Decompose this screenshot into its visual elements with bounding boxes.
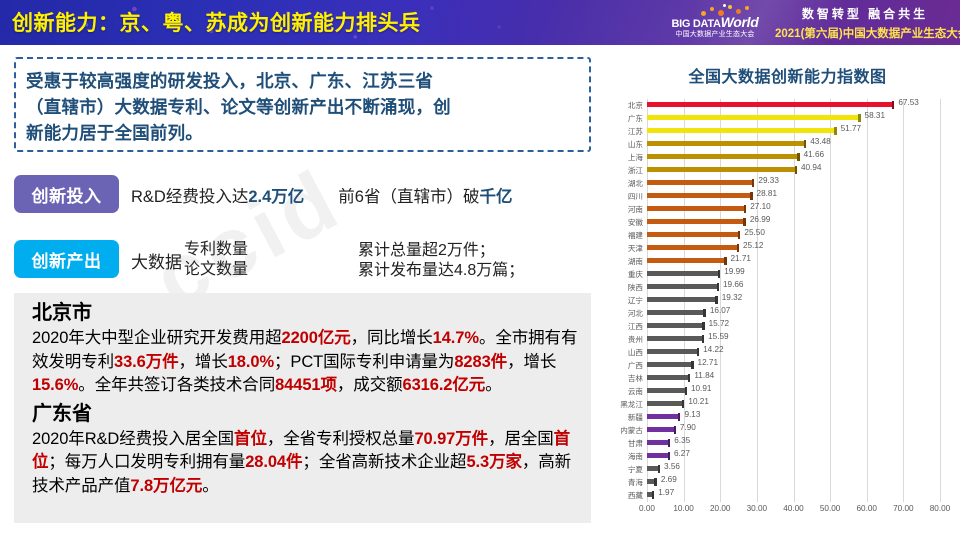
summary-callout-box: 受惠于较高强度的研发投入，北京、广东、江苏三省 （直辖市）大数据专利、论文等创新…: [14, 57, 591, 152]
chart-bar-row: 安徽26.99: [647, 216, 940, 229]
top6-label: 前6省（直辖市）破: [338, 188, 479, 206]
chart-bar-row: 四川28.81: [647, 190, 940, 203]
chart-category-label: 江苏: [628, 126, 643, 137]
chart-category-label: 广西: [628, 360, 643, 371]
chart-bar-row: 上海41.66: [647, 151, 940, 164]
chart-value-label: 25.50: [744, 228, 765, 237]
chart-bar-row: 湖北29.33: [647, 177, 940, 190]
top-banner: 创新能力：京、粤、苏成为创新能力排头兵 BIG DATAWorld 中国大数据产…: [0, 0, 960, 45]
chart-bar-row: 天津25.12: [647, 242, 940, 255]
chart-x-tick-label: 60.00: [857, 504, 878, 513]
chart-category-label: 陕西: [628, 282, 643, 293]
chart-x-axis: 0.0010.0020.0030.0040.0050.0060.0070.008…: [647, 504, 940, 524]
chart-category-label: 江西: [628, 321, 643, 332]
chart-bar: [647, 336, 704, 341]
chart-bar-row: 辽宁19.32: [647, 294, 940, 307]
chart-bar-row: 海南6.27: [647, 450, 940, 463]
innovation-output-text: 大数据 专利数量 论文数量: [131, 240, 248, 280]
chart-category-label: 贵州: [628, 334, 643, 345]
chart-value-label: 3.56: [664, 462, 680, 471]
chart-bar-row: 江西15.72: [647, 320, 940, 333]
output-metric-patents: 专利数量: [184, 241, 248, 258]
chart-x-tick-label: 30.00: [747, 504, 768, 513]
chart-bar-row: 西藏1.97: [647, 489, 940, 502]
chart-value-label: 41.66: [804, 150, 825, 159]
chart-bar-row: 重庆19.99: [647, 268, 940, 281]
chart-bar-cap: [702, 322, 704, 330]
chart-bar: [647, 310, 706, 315]
chart-bar: [647, 362, 694, 367]
chart-bar-row: 山西14.22: [647, 346, 940, 359]
top6-value: 千亿: [479, 188, 512, 206]
chart-category-label: 西藏: [628, 490, 643, 501]
chart-bar-cap: [668, 439, 670, 447]
chart-bar-cap: [685, 387, 687, 395]
chart-value-label: 51.77: [841, 124, 862, 133]
chart-value-label: 40.94: [801, 163, 822, 172]
bigdata-prefix-label: 大数据: [131, 248, 182, 273]
chart-bar-cap: [795, 166, 797, 174]
chart-category-label: 浙江: [628, 165, 643, 176]
chart-bar-cap: [737, 244, 739, 252]
chart-bar-cap: [688, 374, 690, 382]
chart-bar-cap: [858, 114, 860, 122]
chart-bar: [647, 245, 739, 250]
chart-bar: [647, 180, 754, 185]
chart-value-label: 15.72: [709, 319, 730, 328]
chart-bar: [647, 167, 797, 172]
chart-bar-cap: [834, 127, 836, 135]
chart-bar: [647, 388, 687, 393]
chart-x-tick-label: 50.00: [820, 504, 841, 513]
chart-category-label: 宁夏: [628, 464, 643, 475]
chart-bar: [647, 401, 684, 406]
chart-bar: [647, 219, 746, 224]
chart-category-label: 海南: [628, 451, 643, 462]
logo-subtitle: 中国大数据产业生态大会: [655, 29, 775, 39]
chart-category-label: 湖南: [628, 256, 643, 267]
chart-bar-cap: [678, 413, 680, 421]
chart-category-label: 湖北: [628, 178, 643, 189]
chart-bar-cap: [691, 361, 693, 369]
chart-bar-row: 江苏51.77: [647, 125, 940, 138]
chart-bar: [647, 193, 753, 198]
chart-value-label: 6.35: [674, 436, 690, 445]
output-metric-papers: 论文数量: [184, 261, 248, 278]
chart-bar-cap: [743, 218, 745, 226]
logo-wordmark: BIG DATAWorld: [655, 14, 775, 30]
chart-value-label: 29.33: [758, 176, 779, 185]
callout-line-2: （直辖市）大数据专利、论文等创新产出不断涌现，创: [26, 97, 451, 117]
beijing-body: 2020年大中型企业研究开发费用超2200亿元，同比增长14.7%。全市拥有有效…: [32, 327, 581, 398]
chart-bar: [647, 141, 806, 146]
chart-bar: [647, 154, 800, 159]
beijing-heading: 北京市: [32, 301, 581, 326]
innovation-output-row: 创新产出: [14, 240, 119, 278]
rd-funding-label: R&D经费投入达: [131, 188, 248, 206]
badge-innovation-output: 创新产出: [14, 240, 119, 278]
chart-category-label: 安徽: [628, 217, 643, 228]
chart-bar-cap: [892, 101, 894, 109]
chart-bar: [647, 427, 676, 432]
chart-category-label: 甘肃: [628, 438, 643, 449]
left-content-panel: 受惠于较高强度的研发投入，北京、广东、江苏三省 （直辖市）大数据专利、论文等创新…: [0, 45, 615, 540]
chart-value-label: 19.99: [724, 267, 745, 276]
chart-bar: [647, 323, 705, 328]
innovation-investment-text: R&D经费投入达2.4万亿前6省（直辖市）破千亿: [131, 183, 512, 207]
chart-category-label: 重庆: [628, 269, 643, 280]
chart-bar-row: 浙江40.94: [647, 164, 940, 177]
chart-value-label: 2.69: [661, 475, 677, 484]
chart-bar-cap: [797, 153, 799, 161]
chart-category-label: 青海: [628, 477, 643, 488]
chart-value-label: 19.32: [722, 293, 743, 302]
chart-bar-cap: [715, 296, 717, 304]
chart-category-label: 四川: [628, 191, 643, 202]
chart-value-label: 6.27: [674, 449, 690, 458]
chart-value-label: 16.07: [710, 306, 731, 315]
chart-value-label: 26.99: [750, 215, 771, 224]
chart-bar-cap: [652, 491, 654, 499]
chart-bar-row: 福建25.50: [647, 229, 940, 242]
chart-bar-row: 广西12.71: [647, 359, 940, 372]
output-value-patents: 累计总量超2万件；: [358, 242, 495, 259]
summary-callout-text: 受惠于较高强度的研发投入，北京、广东、江苏三省 （直辖市）大数据专利、论文等创新…: [16, 59, 589, 146]
chart-value-label: 43.48: [810, 137, 831, 146]
chart-value-label: 58.31: [865, 111, 886, 120]
innovation-output-values: 累计总量超2万件； 累计发布量达4.8万篇；: [358, 241, 524, 281]
chart-bar: [647, 349, 699, 354]
conference-slogan: 数智转型 融合共生: [775, 5, 955, 22]
conference-name: 2021(第六届)中国大数据产业生态大会: [775, 25, 955, 41]
chart-bar: [647, 128, 837, 133]
chart-category-label: 上海: [628, 152, 643, 163]
chart-bar-row: 河北16.07: [647, 307, 940, 320]
chart-x-tick-label: 80.00: [930, 504, 951, 513]
innovation-investment-row: 创新投入: [14, 175, 119, 213]
chart-category-label: 吉林: [628, 373, 643, 384]
chart-value-label: 1.97: [658, 488, 674, 497]
chart-category-label: 山西: [628, 347, 643, 358]
chart-x-tick-label: 40.00: [783, 504, 804, 513]
output-value-papers: 累计发布量达4.8万篇；: [358, 262, 524, 279]
chart-bar-cap: [654, 478, 656, 486]
chart-value-label: 28.81: [757, 189, 778, 198]
chart-bar: [647, 375, 690, 380]
rd-funding-value: 2.4万亿: [248, 188, 304, 206]
chart-x-tick-label: 70.00: [893, 504, 914, 513]
chart-panel: 全国大数据创新能力指数图 北京67.53广东58.31江苏51.77山东43.4…: [615, 45, 960, 540]
callout-line-1: 受惠于较高强度的研发投入，北京、广东、江苏三省: [26, 71, 433, 91]
chart-bar-cap: [804, 140, 806, 148]
chart-bar: [647, 232, 740, 237]
chart-value-label: 11.84: [694, 371, 714, 380]
chart-value-label: 10.91: [691, 384, 712, 393]
chart-gridline: [940, 99, 941, 502]
chart-x-tick-label: 20.00: [710, 504, 731, 513]
chart-bar-row: 陕西19.66: [647, 281, 940, 294]
chart-bar-row: 湖南21.71: [647, 255, 940, 268]
chart-category-label: 山东: [628, 139, 643, 150]
chart-value-label: 12.71: [698, 358, 719, 367]
chart-category-label: 广东: [628, 113, 643, 124]
chart-category-label: 北京: [628, 100, 643, 111]
chart-bar-cap: [697, 348, 699, 356]
slide-title: 创新能力：京、粤、苏成为创新能力排头兵: [12, 7, 421, 37]
callout-line-3: 新能力居于全国前列。: [26, 123, 203, 143]
detail-gray-box: 北京市 2020年大中型企业研究开发费用超2200亿元，同比增长14.7%。全市…: [14, 293, 591, 523]
chart-value-label: 15.59: [708, 332, 729, 341]
chart-value-label: 25.12: [743, 241, 764, 250]
chart-bar-cap: [682, 400, 684, 408]
chart-bar: [647, 297, 718, 302]
chart-bar-cap: [724, 257, 726, 265]
chart-value-label: 67.53: [898, 98, 919, 107]
chart-bar: [647, 115, 861, 120]
chart-bar-cap: [752, 179, 754, 187]
chart-bar-row: 河南27.10: [647, 203, 940, 216]
chart-bar-row: 北京67.53: [647, 99, 940, 112]
chart-category-label: 福建: [628, 230, 643, 241]
chart-bar-cap: [738, 231, 740, 239]
chart-x-tick-label: 0.00: [639, 504, 655, 513]
chart-bar: [647, 284, 719, 289]
guangdong-body: 2020年R&D经费投入居全国首位，全省专利授权总量70.97万件，居全国首位；…: [32, 428, 581, 499]
chart-value-label: 9.13: [684, 410, 700, 419]
chart-category-label: 河南: [628, 204, 643, 215]
chart-bar-row: 甘肃6.35: [647, 437, 940, 450]
chart-bar-row: 内蒙古7.90: [647, 424, 940, 437]
chart-plot-area: 北京67.53广东58.31江苏51.77山东43.48上海41.66浙江40.…: [647, 99, 940, 502]
chart-bar-row: 青海2.69: [647, 476, 940, 489]
chart-bar-cap: [717, 283, 719, 291]
chart-bar-cap: [744, 205, 746, 213]
chart-bar-row: 宁夏3.56: [647, 463, 940, 476]
logo-world-text: World: [721, 14, 759, 30]
chart-value-label: 14.22: [703, 345, 724, 354]
chart-category-label: 河北: [628, 308, 643, 319]
conference-header: 数智转型 融合共生 2021(第六届)中国大数据产业生态大会: [775, 5, 955, 41]
chart-bar: [647, 414, 680, 419]
chart-category-label: 新疆: [628, 412, 643, 423]
chart-value-label: 10.21: [688, 397, 709, 406]
chart-category-label: 黑龙江: [620, 399, 643, 410]
chart-value-label: 19.66: [723, 280, 744, 289]
chart-value-label: 7.90: [680, 423, 696, 432]
chart-bar: [647, 258, 727, 263]
chart-title: 全国大数据创新能力指数图: [615, 63, 960, 87]
output-metric-list: 专利数量 论文数量: [184, 240, 248, 280]
chart-bar-cap: [702, 335, 704, 343]
chart-category-label: 辽宁: [628, 295, 643, 306]
badge-innovation-investment: 创新投入: [14, 175, 119, 213]
chart-category-label: 云南: [628, 386, 643, 397]
chart-x-tick-label: 10.00: [673, 504, 694, 513]
chart-bar: [647, 206, 746, 211]
chart-bar-cap: [718, 270, 720, 278]
chart-bar-cap: [658, 465, 660, 473]
chart-bar-cap: [674, 426, 676, 434]
chart-bar: [647, 440, 670, 445]
chart-bar-cap: [668, 452, 670, 460]
chart-bar: [647, 271, 720, 276]
chart-bars-container: 北京67.53广东58.31江苏51.77山东43.48上海41.66浙江40.…: [647, 99, 940, 502]
chart-category-label: 内蒙古: [620, 425, 643, 436]
chart-bar-cap: [703, 309, 705, 317]
guangdong-heading: 广东省: [32, 402, 581, 427]
chart-bar-cap: [750, 192, 752, 200]
bigdata-world-logo: BIG DATAWorld 中国大数据产业生态大会: [655, 4, 775, 42]
chart-value-label: 27.10: [750, 202, 771, 211]
chart-bar-row: 广东58.31: [647, 112, 940, 125]
chart-category-label: 天津: [628, 243, 643, 254]
chart-bar: [647, 453, 670, 458]
chart-bar-row: 贵州15.59: [647, 333, 940, 346]
chart-value-label: 21.71: [731, 254, 752, 263]
chart-bar-row: 山东43.48: [647, 138, 940, 151]
chart-bar: [647, 102, 894, 107]
